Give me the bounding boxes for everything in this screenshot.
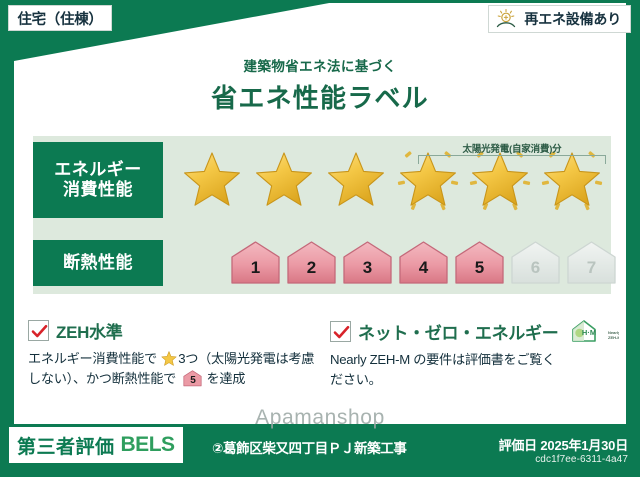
page-title: 省エネ性能ラベル xyxy=(0,78,640,115)
criterion-description: エネルギー消費性能で 3つ（太陽光発電は考慮しない）、かつ断熱性能で 5 を達成 xyxy=(28,349,318,389)
criterion-header: ネット・ゼロ・エネルギー H·M Nearly ZEH-M xyxy=(330,318,620,344)
renewable-equipment-badge: 再エネ設備あり xyxy=(488,5,631,33)
insulation-level-badge-inactive: 6 xyxy=(509,240,562,286)
sun-icon xyxy=(495,8,519,30)
criterion-zeh-standard: ZEH水準 エネルギー消費性能で 3つ（太陽光発電は考慮しない）、かつ断熱性能で… xyxy=(28,318,318,389)
criterion-title: ネット・ゼロ・エネルギー xyxy=(358,319,558,344)
energy-label-line1: エネルギー xyxy=(54,160,142,180)
criterion-text-part2: 3つ（太陽光発電 xyxy=(178,351,275,366)
insulation-level-badge: 2 xyxy=(285,240,338,286)
insulation-label-text: 断熱性能 xyxy=(63,253,133,273)
criterion-header: ZEH水準 xyxy=(28,318,318,343)
label-header: 建築物省エネ法に基づく 省エネ性能ラベル xyxy=(0,55,640,115)
criterion-text-part1: エネルギー消費性能で xyxy=(28,351,157,366)
star-icon xyxy=(161,351,177,367)
insulation-level-badge-inactive: 7 xyxy=(565,240,618,286)
criterion-text-part1: Nearly ZEH-M の要件は評価書をご覧く xyxy=(330,352,555,367)
insulation-performance-row: 断熱性能 xyxy=(33,240,611,286)
property-address: ②葛飾区柴又四丁目ＰＪ新築工事 xyxy=(212,437,406,457)
insulation-level-inline-value: 5 xyxy=(181,370,204,387)
energy-performance-label: 住宅（住棟） 再エネ設備あり 建築物省エネ法に基づく 省エネ性能ラベル xyxy=(0,0,640,477)
checkbox-checked-icon xyxy=(28,320,49,341)
insulation-level-value: 4 xyxy=(397,240,450,286)
insulation-level-value: 3 xyxy=(341,240,394,286)
footer-bar: 第三者評価 BELS ②葛飾区柴又四丁目ＰＪ新築工事 評価日 2025年1月30… xyxy=(0,430,640,477)
insulation-level-inline-icon: 5 xyxy=(181,370,204,387)
criterion-text-part4: を達成 xyxy=(206,371,245,386)
housing-type-label: 住宅（住棟） xyxy=(17,8,102,29)
criterion-description: Nearly ZEH-M の要件は評価書をご覧く ださい。 xyxy=(330,350,620,390)
svg-text:ZEH-M: ZEH-M xyxy=(608,335,619,340)
insulation-level-value: 1 xyxy=(229,240,282,286)
svg-text:H·M: H·M xyxy=(582,328,596,337)
checkbox-checked-icon xyxy=(330,321,351,342)
bels-jp-label: 第三者評価 xyxy=(17,432,115,459)
insulation-level-value: 6 xyxy=(509,240,562,286)
star-filled xyxy=(250,143,318,215)
performance-panel: エネルギー 消費性能 太陽光発電(自家消費)分 xyxy=(33,136,611,294)
energy-performance-label: エネルギー 消費性能 xyxy=(33,142,163,218)
header-subtitle: 建築物省エネ法に基づく xyxy=(0,55,640,75)
criterion-text-part2: ださい。 xyxy=(330,372,382,387)
evaluation-date: 評価日 2025年1月30日 xyxy=(499,435,628,454)
bels-en-label: BELS xyxy=(121,433,175,457)
housing-type-badge: 住宅（住棟） xyxy=(8,5,112,31)
star-filled xyxy=(178,143,246,215)
insulation-level-badge: 1 xyxy=(229,240,282,286)
zeh-m-house-icon: H·M Nearly ZEH-M xyxy=(569,318,619,344)
insulation-level-badge: 5 xyxy=(453,240,506,286)
insulation-level-value: 2 xyxy=(285,240,338,286)
solar-annotation: 太陽光発電(自家消費)分 xyxy=(416,141,608,155)
insulation-level-scale: 1 2 3 4 5 xyxy=(229,240,618,286)
criterion-net-zero-energy: ネット・ゼロ・エネルギー H·M Nearly ZEH-M Nearly ZEH… xyxy=(330,318,620,390)
insulation-level-value: 7 xyxy=(565,240,618,286)
energy-label-line2: 消費性能 xyxy=(63,180,133,200)
insulation-level-value: 5 xyxy=(453,240,506,286)
insulation-level-badge: 3 xyxy=(341,240,394,286)
insulation-performance-label: 断熱性能 xyxy=(33,240,163,286)
energy-performance-row: エネルギー 消費性能 太陽光発電(自家消費)分 xyxy=(33,142,611,218)
criterion-title: ZEH水準 xyxy=(56,318,123,343)
renewable-label: 再エネ設備あり xyxy=(524,9,621,29)
bels-certification-badge: 第三者評価 BELS xyxy=(9,427,183,463)
evaluation-id: cdc1f7ee-6311-4a47 xyxy=(535,454,628,465)
star-filled xyxy=(322,143,390,215)
solar-bracket xyxy=(418,155,606,164)
insulation-level-badge: 4 xyxy=(397,240,450,286)
